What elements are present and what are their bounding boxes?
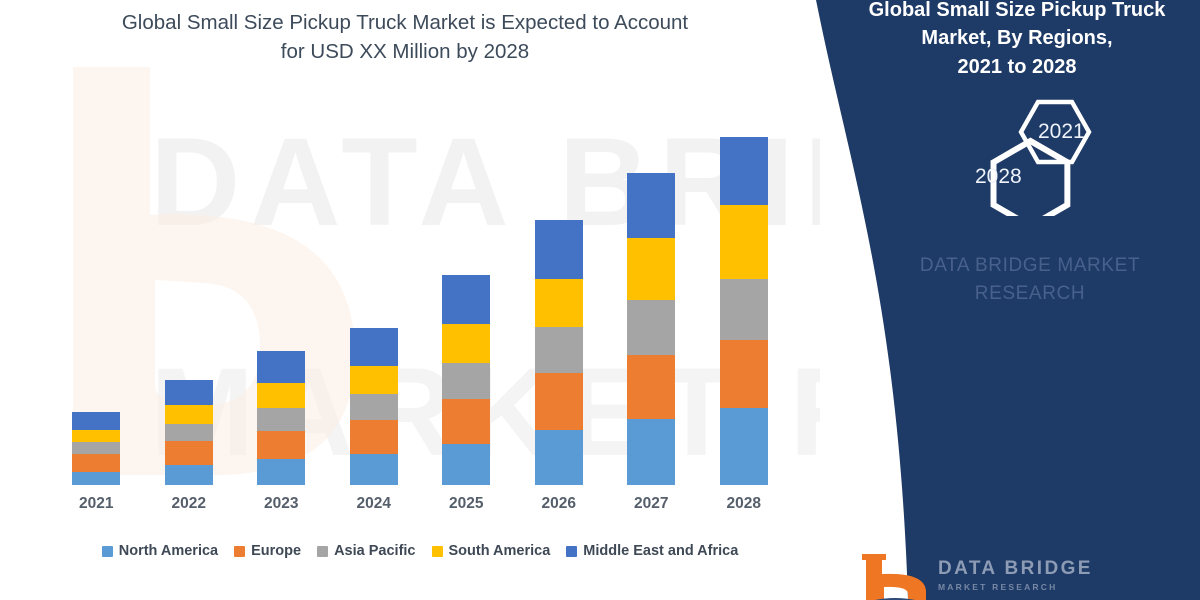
bar-segment[interactable] bbox=[257, 431, 305, 459]
chart-title: Global Small Size Pickup Truck Market is… bbox=[60, 8, 750, 66]
bar-segment[interactable] bbox=[627, 419, 675, 485]
bar-segment[interactable] bbox=[165, 465, 213, 485]
bar-slot-2025 bbox=[420, 120, 513, 485]
legend-label: Asia Pacific bbox=[334, 543, 415, 559]
legend-swatch-icon bbox=[566, 546, 577, 557]
bar-segment[interactable] bbox=[535, 430, 583, 485]
chart-title-line-2: for USD XX Million by 2028 bbox=[60, 37, 750, 66]
bar-segment[interactable] bbox=[442, 444, 490, 485]
infographic-root: DATA BRIDGE MARKET RESEARCH Global Small… bbox=[0, 0, 1200, 600]
chart-title-line-1: Global Small Size Pickup Truck Market is… bbox=[60, 8, 750, 37]
bar-segment[interactable] bbox=[535, 279, 583, 327]
bar-segment[interactable] bbox=[350, 366, 398, 394]
legend-item[interactable]: South America bbox=[432, 543, 551, 559]
bar-segment[interactable] bbox=[627, 355, 675, 419]
bar-segment[interactable] bbox=[720, 205, 768, 279]
stacked-bar-2021[interactable] bbox=[72, 412, 120, 485]
bar-segment[interactable] bbox=[627, 238, 675, 300]
stacked-bar-2027[interactable] bbox=[627, 173, 675, 485]
logo-subtitle: MARKET RESEARCH bbox=[938, 582, 1057, 592]
bar-segment[interactable] bbox=[442, 324, 490, 363]
legend-swatch-icon bbox=[432, 546, 443, 557]
bar-segment[interactable] bbox=[72, 412, 120, 430]
legend-swatch-icon bbox=[102, 546, 113, 557]
logo-name: DATA BRIDGE bbox=[938, 558, 1093, 580]
chart-legend: North AmericaEuropeAsia PacificSouth Ame… bbox=[50, 538, 790, 564]
bar-segment[interactable] bbox=[442, 399, 490, 444]
bar-slot-2028 bbox=[698, 120, 791, 485]
bar-segment[interactable] bbox=[535, 220, 583, 279]
legend-label: Europe bbox=[251, 543, 301, 559]
bar-segment[interactable] bbox=[165, 424, 213, 441]
bar-segment[interactable] bbox=[720, 137, 768, 205]
x-tick-2022: 2022 bbox=[143, 487, 236, 521]
panel-title: Global Small Size Pickup Truck Market, B… bbox=[852, 0, 1182, 81]
x-tick-2024: 2024 bbox=[328, 487, 421, 521]
bar-segment[interactable] bbox=[257, 408, 305, 431]
bar-segment[interactable] bbox=[257, 459, 305, 485]
bar-segment[interactable] bbox=[442, 275, 490, 324]
hexagon-group: 2021 2028 bbox=[942, 96, 1122, 216]
bar-segment[interactable] bbox=[350, 420, 398, 454]
bar-segment[interactable] bbox=[165, 441, 213, 465]
panel-brand-line-1: DATA BRIDGE MARKET bbox=[880, 252, 1180, 280]
bar-segment[interactable] bbox=[627, 300, 675, 355]
panel-brand-line-2: RESEARCH bbox=[880, 280, 1180, 308]
stacked-bar-2026[interactable] bbox=[535, 220, 583, 485]
legend-label: Middle East and Africa bbox=[583, 543, 738, 559]
bar-segment[interactable] bbox=[535, 327, 583, 373]
x-axis-labels: 20212022202320242025202620272028 bbox=[50, 487, 790, 521]
bar-segment[interactable] bbox=[257, 351, 305, 383]
x-tick-2025: 2025 bbox=[420, 487, 513, 521]
hexagon-2021-label: 2021 bbox=[1038, 120, 1085, 144]
stacked-bar-2028[interactable] bbox=[720, 137, 768, 485]
legend-label: North America bbox=[119, 543, 218, 559]
bar-segment[interactable] bbox=[350, 394, 398, 420]
legend-item[interactable]: Europe bbox=[234, 543, 301, 559]
bar-segment[interactable] bbox=[72, 472, 120, 485]
panel-brand-text: DATA BRIDGE MARKET RESEARCH bbox=[880, 252, 1180, 307]
panel-title-line-2: Market, By Regions, bbox=[852, 24, 1182, 52]
data-bridge-logo: DATA BRIDGE MARKET RESEARCH bbox=[860, 552, 1160, 600]
bar-segment[interactable] bbox=[165, 405, 213, 424]
legend-item[interactable]: Middle East and Africa bbox=[566, 543, 738, 559]
stacked-bar-2023[interactable] bbox=[257, 351, 305, 485]
bar-segment[interactable] bbox=[72, 442, 120, 454]
plot-area bbox=[50, 120, 790, 485]
bar-segment[interactable] bbox=[72, 454, 120, 472]
panel-title-line-3: 2021 to 2028 bbox=[852, 53, 1182, 81]
x-tick-2028: 2028 bbox=[698, 487, 791, 521]
bar-segment[interactable] bbox=[350, 328, 398, 366]
bar-slot-2023 bbox=[235, 120, 328, 485]
x-tick-2026: 2026 bbox=[513, 487, 606, 521]
bar-slot-2027 bbox=[605, 120, 698, 485]
bar-segment[interactable] bbox=[720, 279, 768, 340]
bar-segment[interactable] bbox=[627, 173, 675, 238]
bar-segment[interactable] bbox=[442, 363, 490, 399]
bar-segment[interactable] bbox=[535, 373, 583, 430]
x-tick-2021: 2021 bbox=[50, 487, 143, 521]
legend-label: South America bbox=[449, 543, 551, 559]
stacked-bar-2024[interactable] bbox=[350, 328, 398, 485]
legend-item[interactable]: Asia Pacific bbox=[317, 543, 415, 559]
hexagon-2028-label: 2028 bbox=[975, 165, 1022, 189]
right-navy-panel: Global Small Size Pickup Truck Market, B… bbox=[780, 0, 1200, 600]
stacked-bar-2025[interactable] bbox=[442, 275, 490, 485]
bar-segment[interactable] bbox=[165, 380, 213, 405]
bar-segment[interactable] bbox=[72, 430, 120, 442]
x-tick-2027: 2027 bbox=[605, 487, 698, 521]
stacked-bar-2022[interactable] bbox=[165, 380, 213, 485]
bar-segment[interactable] bbox=[720, 408, 768, 485]
bar-group bbox=[50, 120, 790, 485]
bar-slot-2021 bbox=[50, 120, 143, 485]
bar-slot-2024 bbox=[328, 120, 421, 485]
bar-segment[interactable] bbox=[720, 340, 768, 408]
bridge-mark-icon bbox=[860, 552, 930, 600]
panel-title-line-1: Global Small Size Pickup Truck bbox=[852, 0, 1182, 24]
bar-slot-2026 bbox=[513, 120, 606, 485]
legend-swatch-icon bbox=[234, 546, 245, 557]
bar-slot-2022 bbox=[143, 120, 236, 485]
bar-segment[interactable] bbox=[350, 454, 398, 485]
x-tick-2023: 2023 bbox=[235, 487, 328, 521]
legend-item[interactable]: North America bbox=[102, 543, 218, 559]
bar-segment[interactable] bbox=[257, 383, 305, 408]
legend-swatch-icon bbox=[317, 546, 328, 557]
